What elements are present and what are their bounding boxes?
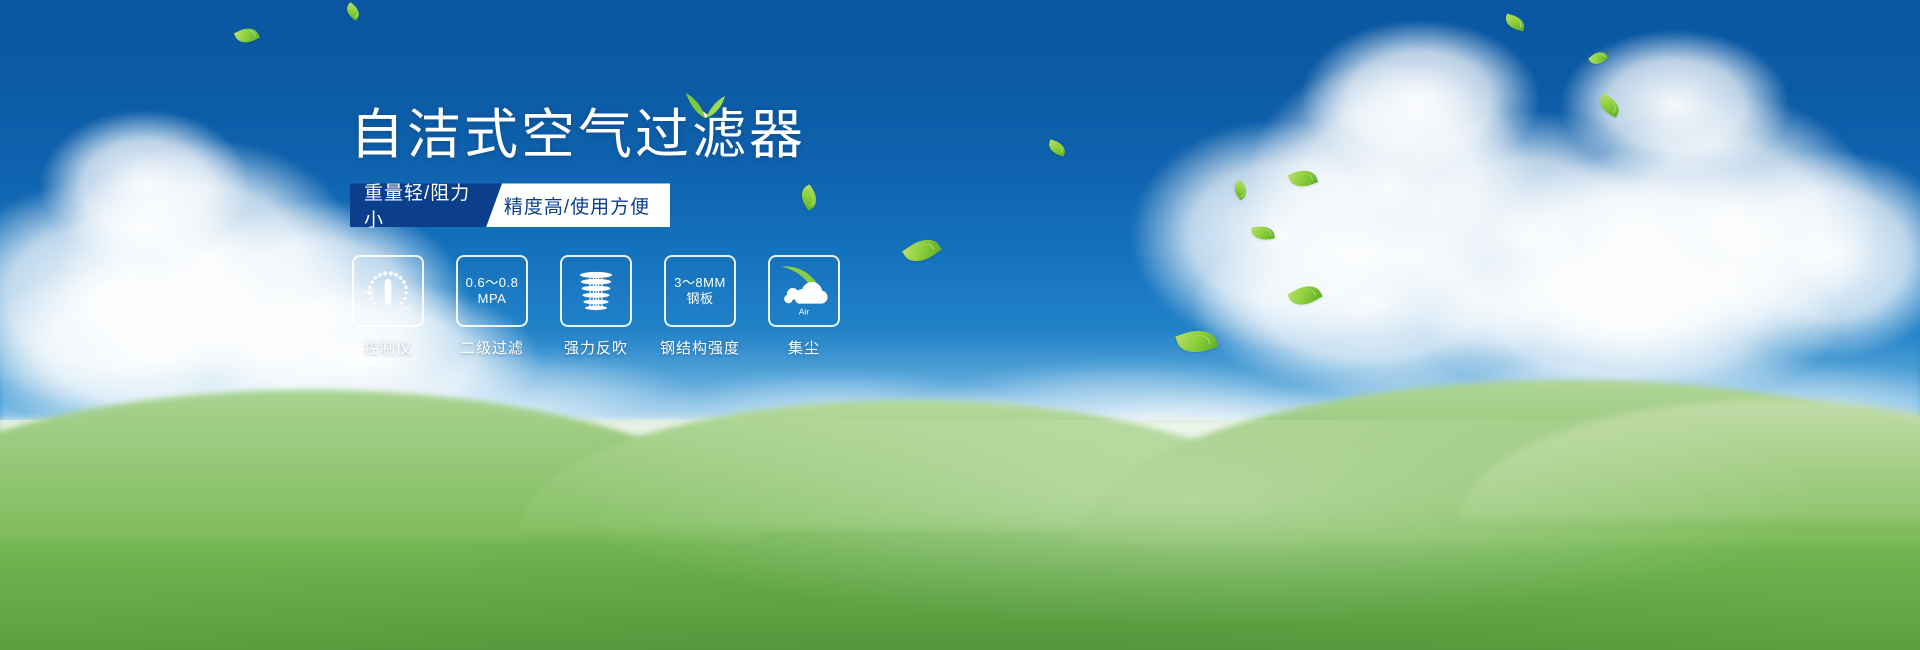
feature-item-controller[interactable]: NO OFF 控制仪 — [350, 255, 426, 358]
feature-box: NO OFF — [352, 255, 424, 327]
field-vignette — [0, 420, 1920, 650]
feature-caption: 控制仪 — [364, 337, 412, 358]
feature-box: Air — [768, 255, 840, 327]
pressure-text-icon: 0.6～0.8 MPA — [466, 275, 519, 308]
steel-plate-text-icon: 3～8MM 钢板 — [674, 275, 726, 308]
product-hero-banner: 自洁式空气过滤器 重量轻/阻力小 精度高/使用方便 — [0, 0, 1920, 650]
air-label: Air — [799, 307, 809, 317]
feature-item-two-stage-filter[interactable]: 0.6～0.8 MPA 二级过滤 — [454, 255, 530, 358]
svg-text:OFF: OFF — [399, 307, 411, 313]
feature-icon-row: NO OFF 控制仪 0.6～0.8 MPA 二级过滤 — [350, 255, 1070, 358]
feature-caption: 强力反吹 — [564, 337, 628, 358]
cloud-air-icon: Air — [774, 261, 834, 321]
feature-caption: 二级过滤 — [460, 337, 524, 358]
feature-caption: 集尘 — [788, 337, 820, 358]
gauge-dial-icon: NO OFF — [358, 261, 418, 321]
feature-box — [560, 255, 632, 327]
title-leaf-icon — [684, 89, 726, 119]
feature-box: 0.6～0.8 MPA — [456, 255, 528, 327]
grass-field — [0, 420, 1920, 650]
svg-text:NO: NO — [365, 289, 375, 296]
filter-stack-icon — [569, 264, 623, 318]
feature-item-reverse-blow[interactable]: 强力反吹 — [558, 255, 634, 358]
feature-item-dust-collection[interactable]: Air 集尘 — [766, 255, 842, 358]
badge-precision-ease[interactable]: 精度高/使用方便 — [486, 183, 670, 227]
feature-badge-group: 重量轻/阻力小 精度高/使用方便 — [350, 183, 670, 227]
feature-caption: 钢结构强度 — [660, 337, 740, 358]
feature-box: 3～8MM 钢板 — [664, 255, 736, 327]
feature-item-steel-strength[interactable]: 3～8MM 钢板 钢结构强度 — [662, 255, 738, 358]
badge-weight-resistance[interactable]: 重量轻/阻力小 — [350, 183, 502, 227]
banner-content: 自洁式空气过滤器 重量轻/阻力小 精度高/使用方便 — [350, 105, 1070, 358]
